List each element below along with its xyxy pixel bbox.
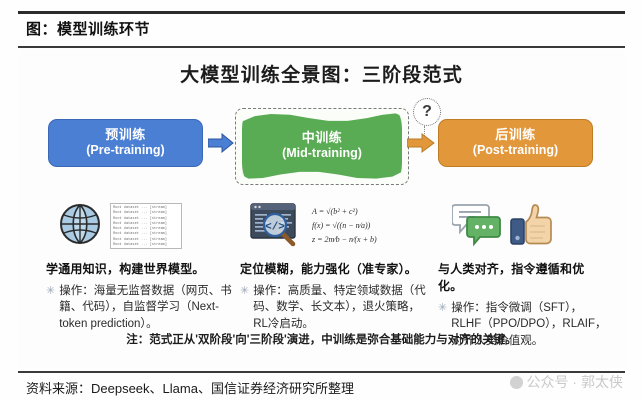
stage-label-cn: 后训练 bbox=[495, 127, 536, 143]
icon-row-post-training bbox=[438, 195, 608, 257]
thumbs-up-icon bbox=[510, 202, 552, 251]
top-rule bbox=[18, 11, 625, 14]
stage-label-cn: 中训练 bbox=[302, 130, 343, 146]
source-line: 资料来源：Deepseek、Llama、国信证券经济研究所整理 bbox=[26, 378, 354, 397]
stage-label-en: (Post-training) bbox=[473, 143, 558, 159]
bullet-text: 操作：海量无监督数据（网页、书籍、代码），自监督学习（Next-token pr… bbox=[59, 283, 232, 332]
icon-row-pre-training: Root dataset ... [stream] Root dataset .… bbox=[46, 195, 232, 257]
globe-icon bbox=[58, 202, 102, 251]
stage-detail-mid-training: </> A = √(b² + c²) f(x) = √((n − n⁄a)) z… bbox=[240, 195, 430, 332]
code-window-magnifier-icon: </> bbox=[250, 201, 304, 252]
formula-line: A = √(b² + c²) bbox=[312, 205, 377, 219]
stage-bullet: ✳ 操作：高质量、特定领域数据（代码、数学、长文本），退火策略，RL冷启动。 bbox=[240, 283, 430, 332]
stage-label-cn: 预训练 bbox=[105, 127, 146, 143]
bullet-marker-icon: ✳ bbox=[46, 283, 55, 332]
stage-box-pre-training[interactable]: 预训练 (Pre-training) bbox=[48, 119, 203, 167]
svg-text:</>: </> bbox=[265, 221, 285, 233]
question-mark-badge[interactable]: ? bbox=[413, 98, 441, 126]
stage-box-mid-training[interactable]: 中训练 (Mid-training) bbox=[242, 112, 402, 180]
diagram-title: 大模型训练全景图：三阶段范式 bbox=[18, 60, 625, 87]
watermark-text: 公众号 · 郭太侠 bbox=[527, 372, 623, 392]
arrow-mid-to-post-icon bbox=[407, 133, 435, 158]
header-rule bbox=[18, 46, 625, 48]
diagram-footnote: 注：范式正从'双阶段'向'三阶段'演进，中训练是弥合基础能力与对齐的关键。 bbox=[18, 331, 625, 347]
formula-line: f(x) = √((n − n⁄a)) bbox=[312, 219, 377, 233]
stage-headline: 学通用知识，构建世界模型。 bbox=[46, 260, 232, 277]
stage-bullet: ✳ 操作：海量无监督数据（网页、书籍、代码），自监督学习（Next-token … bbox=[46, 283, 232, 332]
stage-headline: 与人类对齐，指令遵循和优化。 bbox=[438, 260, 608, 294]
dataset-listing-icon: Root dataset ... [stream] Root dataset .… bbox=[110, 203, 182, 249]
stage-detail-pre-training: Root dataset ... [stream] Root dataset .… bbox=[46, 195, 232, 332]
stage-box-post-training[interactable]: 后训练 (Post-training) bbox=[438, 119, 593, 167]
arrow-pre-to-mid-icon bbox=[208, 133, 234, 158]
exhibit-label: 图：模型训练环节 bbox=[26, 18, 150, 39]
bullet-marker-icon: ✳ bbox=[240, 283, 249, 332]
chat-bubbles-icon bbox=[452, 201, 502, 252]
stage-label-en: (Mid-training) bbox=[282, 146, 362, 162]
stage-label-en: (Pre-training) bbox=[86, 143, 164, 159]
icon-row-mid-training: </> A = √(b² + c²) f(x) = √((n − n⁄a)) z… bbox=[240, 195, 430, 257]
stage-detail-post-training: 与人类对齐，指令遵循和优化。 ✳ 操作：指令微调（SFT），RLHF（PPO/D… bbox=[438, 195, 608, 349]
formula-line: z = 2m⁄b − n⁄(x + b) bbox=[312, 233, 377, 247]
stage-headline: 定位模糊，能力强化（准专家）。 bbox=[240, 260, 430, 277]
math-formula-icon: A = √(b² + c²) f(x) = √((n − n⁄a)) z = 2… bbox=[312, 205, 377, 247]
bullet-text: 操作：高质量、特定领域数据（代码、数学、长文本），退火策略，RL冷启动。 bbox=[253, 283, 430, 332]
watermark-logo-icon bbox=[510, 376, 523, 389]
diagram-canvas: 大模型训练全景图：三阶段范式 预训练 (Pre-training) 中训练 (M… bbox=[18, 50, 625, 368]
watermark: 公众号 · 郭太侠 bbox=[510, 372, 623, 392]
code-line: Root dataset ... [stream] bbox=[113, 243, 179, 248]
exhibit-page: 图：模型训练环节 大模型训练全景图：三阶段范式 预训练 (Pre-trainin… bbox=[0, 0, 643, 400]
